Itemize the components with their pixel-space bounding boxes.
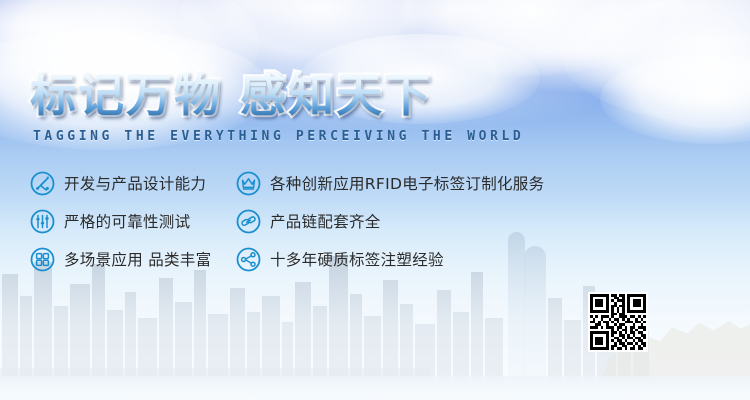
qr-code[interactable] [588,292,648,352]
crown-icon [236,171,261,196]
building [564,320,581,382]
feature-item-development: 开发与产品设计能力 [30,164,211,202]
waterfront [0,376,750,400]
building [2,274,18,382]
feature-column-right: 各种创新应用RFID电子标签订制化服务 产品链配套齐全 [236,164,544,278]
building [437,290,451,382]
page-subtitle: TAGGING THE EVERYTHING PERCEIVING THE WO… [33,129,524,144]
building [471,272,483,382]
building [295,282,311,382]
feature-item-supply-chain: 产品链配套齐全 [236,202,544,240]
building [34,262,52,382]
feature-item-scenarios: 多场景应用 品类丰富 [30,240,211,278]
building [383,280,398,382]
feature-column-left: 开发与产品设计能力 [30,164,211,278]
feature-label: 十多年硬质标签注塑经验 [270,248,444,270]
feature-item-reliability: 严格的可靠性测试 [30,202,211,240]
page-title: 标记万物 感知天下 [30,72,432,118]
share-nodes-icon [236,247,261,272]
building [159,278,173,382]
feature-label: 严格的可靠性测试 [64,210,190,232]
feature-label: 开发与产品设计能力 [64,172,206,194]
cloud-shape [400,0,660,76]
cloud-shape [600,54,750,144]
building [453,312,469,382]
marketing-banner: 标记万物 感知天下 标记万物 感知天下 TAGGING THE EVERYTHI… [0,0,750,400]
grid-icon [30,247,55,272]
feature-label: 产品链配套齐全 [270,210,381,232]
feature-item-rfid-service: 各种创新应用RFID电子标签订制化服务 [236,164,544,202]
feature-label: 多场景应用 品类丰富 [64,248,211,270]
building [194,270,206,382]
qr-code-matrix [590,294,646,350]
feature-label: 各种创新应用RFID电子标签订制化服务 [270,172,544,194]
building [92,264,105,382]
cloud-shape [560,0,750,122]
building [485,318,503,382]
tools-icon [30,171,55,196]
sliders-icon [30,209,55,234]
feature-item-experience: 十多年硬质标签注塑经验 [236,240,544,278]
chain-link-icon [236,209,261,234]
building [548,298,562,382]
